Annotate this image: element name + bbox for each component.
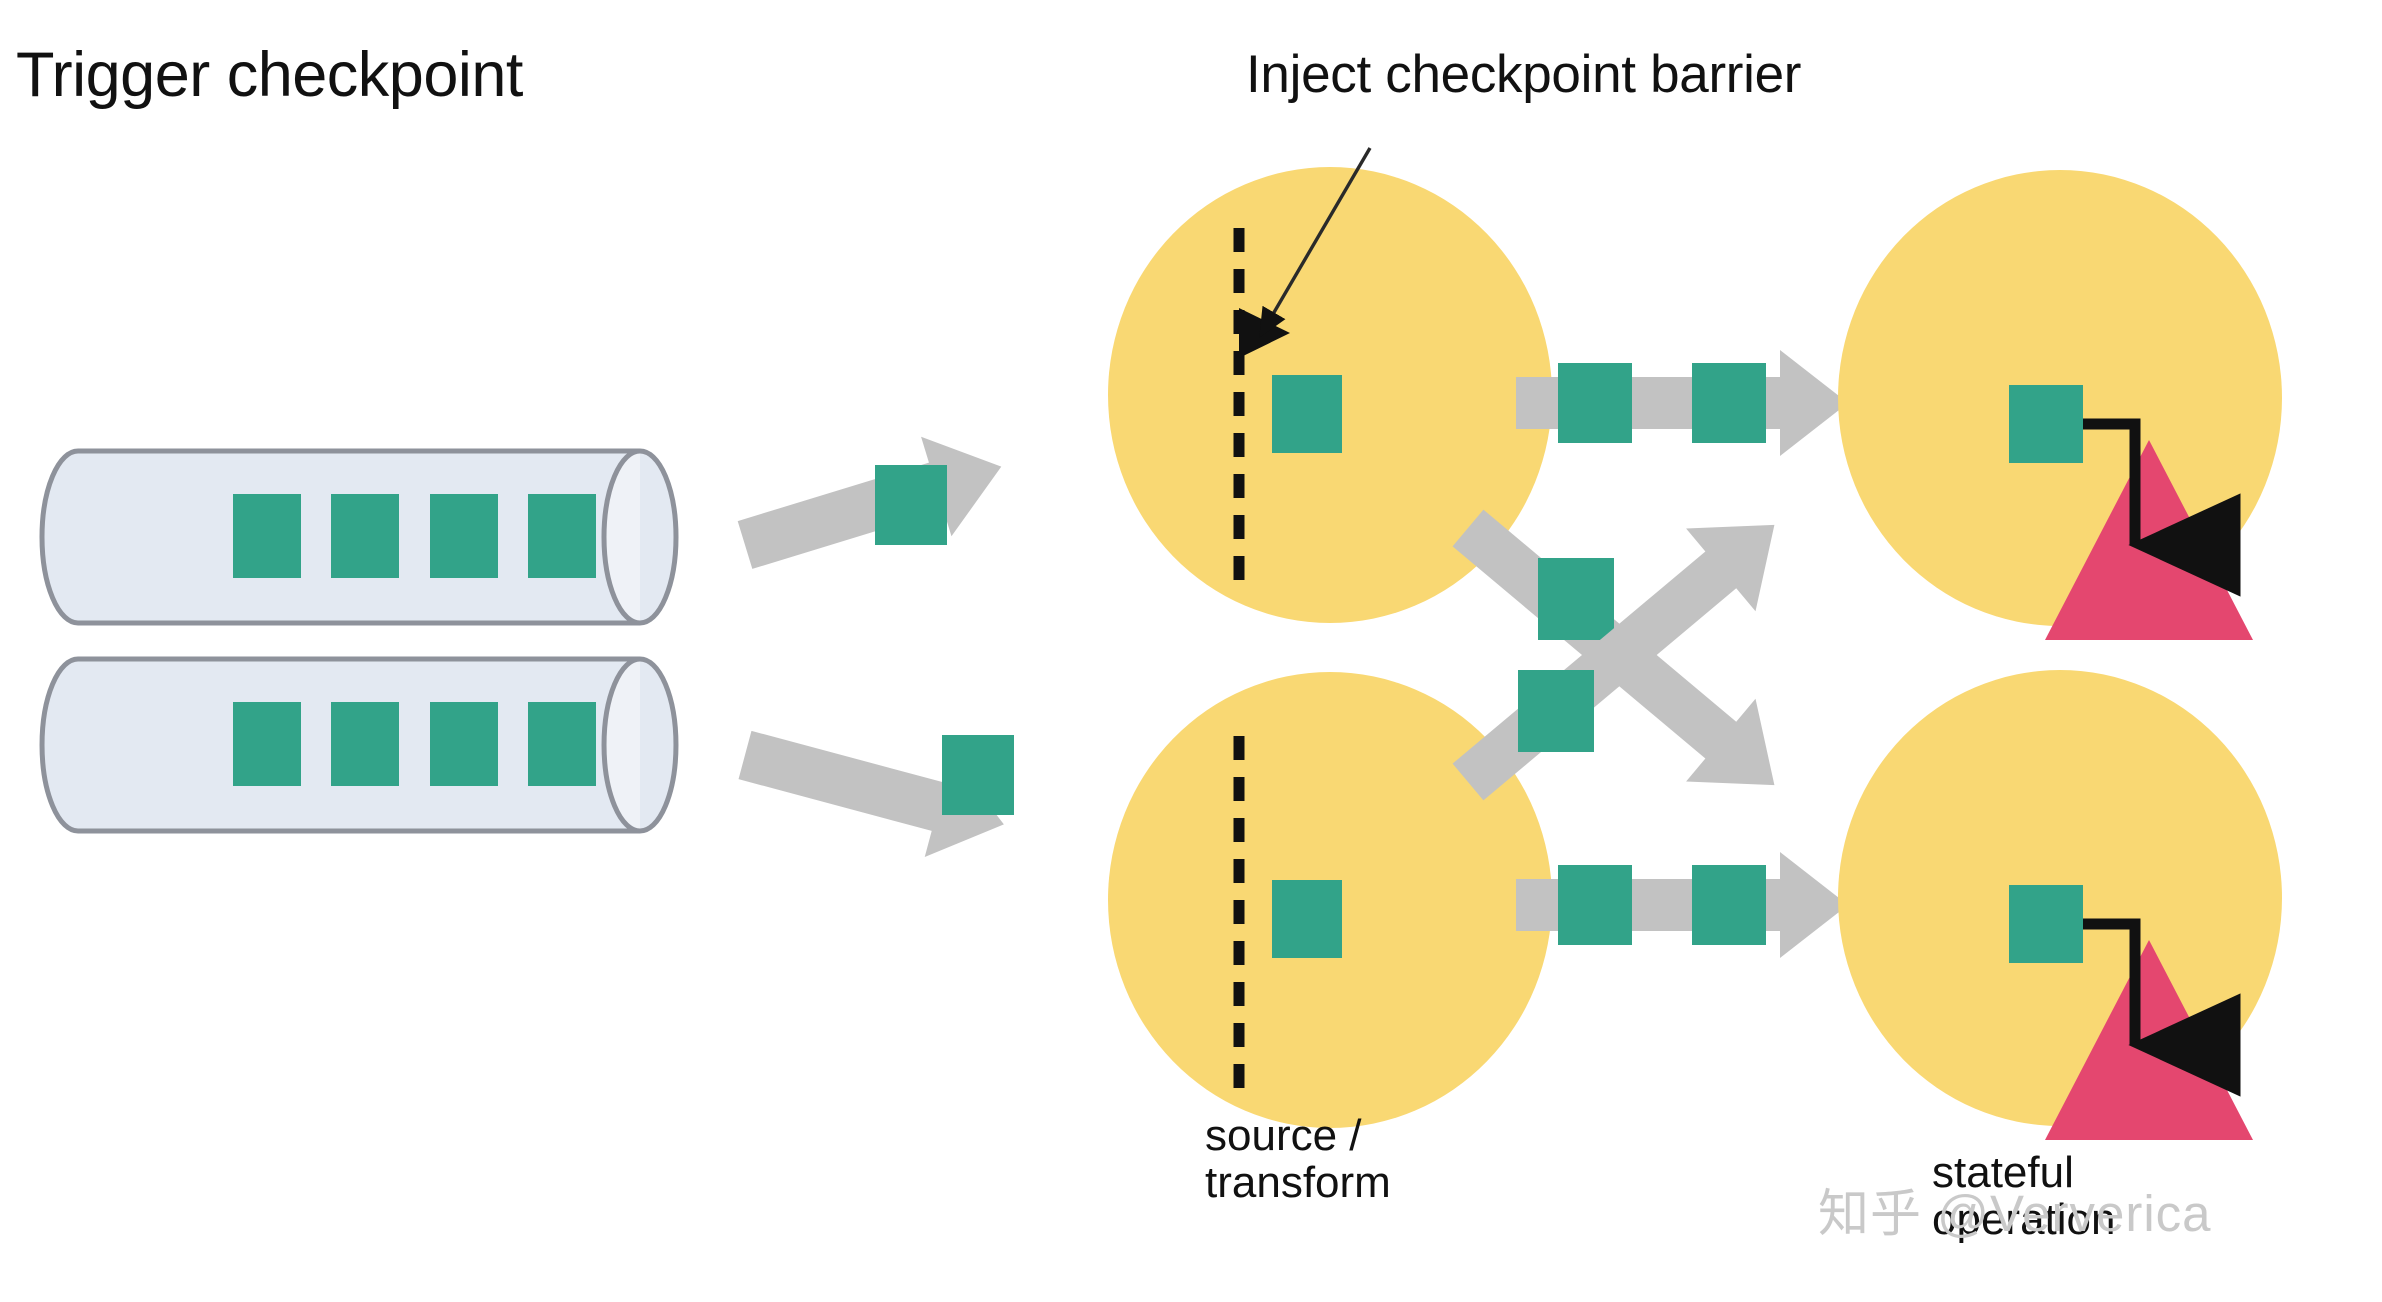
input-stream-cylinder-top <box>42 451 676 623</box>
input-stream-cylinder-bottom <box>42 659 676 831</box>
stateful-operation-top <box>1838 170 2282 640</box>
page-title: Trigger checkpoint <box>16 42 523 109</box>
ingress-arrow-top <box>730 417 1017 595</box>
source-transform-stage-label: source / transform <box>1205 1113 1391 1206</box>
stateful-operation-bottom <box>1838 670 2282 1140</box>
inject-checkpoint-barrier-annotation: Inject checkpoint barrier <box>1246 47 1801 103</box>
diagram-canvas <box>0 0 2382 1302</box>
shuffle-arrow-top-straight <box>1516 350 1848 456</box>
stateful-operation-stage-label: stateful operation <box>1932 1150 2115 1243</box>
shuffle-arrow-bottom-straight <box>1516 852 1848 958</box>
ingress-arrow-bottom <box>732 705 1018 875</box>
